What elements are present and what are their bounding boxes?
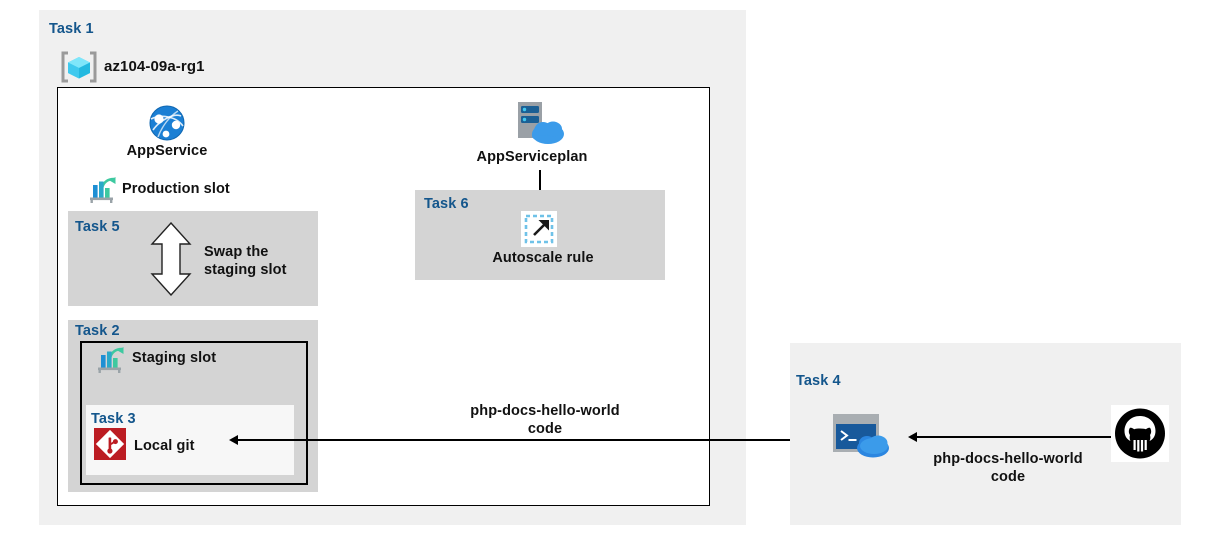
app-service-icon (148, 104, 186, 142)
local-git-label: Local git (134, 438, 195, 454)
github-to-cloudshell-label-line1: php-docs-hello-world (933, 450, 1082, 468)
app-service-plan-icon (512, 100, 570, 146)
diagram-canvas: Task 1 az104-09a-rg1 AppService (0, 0, 1218, 545)
cloudshell-to-localgit-arrow-line (236, 439, 820, 441)
swap-label-line2: staging slot (204, 262, 287, 278)
staging-slot-label: Staging slot (132, 350, 216, 366)
task1-label: Task 1 (49, 21, 94, 37)
autoscale-icon (521, 211, 557, 247)
github-to-cloudshell-arrow-line (915, 436, 1115, 438)
github-to-cloudshell-arrowhead (908, 432, 917, 442)
app-service-label: AppService (127, 142, 208, 160)
task2-label: Task 2 (75, 323, 120, 339)
deployment-slot-icon (88, 176, 118, 204)
github-icon (1111, 405, 1169, 462)
git-icon (94, 428, 126, 460)
github-to-cloudshell-label-line2: code (991, 468, 1025, 486)
cloudshell-to-localgit-label-line1: php-docs-hello-world (470, 402, 619, 420)
resource-group-icon (60, 50, 98, 84)
autoscale-rule-label: Autoscale rule (492, 249, 593, 267)
resource-group-label: az104-09a-rg1 (104, 58, 205, 75)
cloudshell-to-localgit-label-line2: code (528, 420, 562, 438)
swap-arrow-icon (146, 222, 196, 296)
task3-label: Task 3 (91, 411, 136, 427)
swap-label-line1: Swap the (204, 244, 268, 260)
production-slot-label: Production slot (122, 181, 230, 197)
deployment-slot-icon (96, 346, 126, 374)
app-service-plan-label: AppServiceplan (477, 148, 588, 166)
task6-label: Task 6 (424, 196, 469, 212)
cloudshell-to-localgit-arrowhead (229, 435, 238, 445)
task4-label: Task 4 (796, 373, 841, 389)
cloud-shell-icon (833, 414, 898, 459)
task5-label: Task 5 (75, 219, 120, 235)
